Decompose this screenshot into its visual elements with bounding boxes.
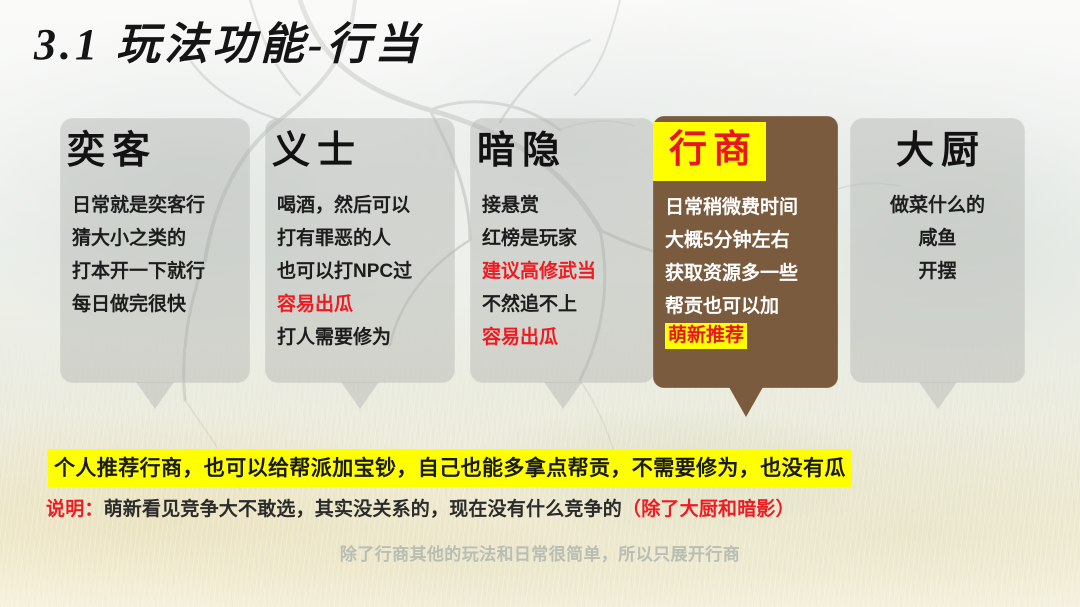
card-4-line-2: 大概5分钟左右 bbox=[665, 224, 790, 257]
card-2-bubble-tail bbox=[341, 382, 379, 409]
card-3-line-4: 不然追不上 bbox=[482, 288, 577, 321]
card-5-line-3: 开摆 bbox=[862, 255, 1013, 288]
card-1-line-2: 猜大小之类的 bbox=[72, 222, 186, 255]
card-2-line-3: 也可以打NPC过 bbox=[277, 255, 412, 288]
card-4-body: 日常稍微费时间 大概5分钟左右 获取资源多一些 帮贡也可以加 萌新推荐 bbox=[653, 191, 838, 349]
card-2-line-1: 喝酒，然后可以 bbox=[277, 189, 410, 222]
card-2-body: 喝酒，然后可以 打有罪恶的人 也可以打NPC过 容易出瓜 打人需要修为 bbox=[265, 189, 455, 354]
recommendation-highlight-note: 个人推荐行商，也可以给帮派加宝钞，自己也能多拿点帮贡，不需要修为，也没有瓜 bbox=[48, 449, 852, 487]
card-2-line-5: 打人需要修为 bbox=[277, 321, 391, 354]
footer-note: 除了行商其他的玩法和日常很简单，所以只展开行商 bbox=[0, 540, 1080, 565]
card-3-title: 暗隐 bbox=[470, 124, 567, 179]
card-3-line-5: 容易出瓜 bbox=[482, 321, 558, 354]
card-5-title: 大厨 bbox=[889, 124, 986, 179]
card-3-body: 接悬赏 红榜是玩家 建议高修武当 不然追不上 容易出瓜 bbox=[470, 189, 655, 354]
slide-title: 3.1 玩法功能-行当 bbox=[34, 8, 423, 72]
card-4-line-3: 获取资源多一些 bbox=[665, 257, 798, 290]
card-4-line-1: 日常稍微费时间 bbox=[665, 191, 798, 224]
card-5-body: 做菜什么的 咸鱼 开摆 bbox=[850, 189, 1025, 288]
profession-card-4-featured[interactable]: 行商 日常稍微费时间 大概5分钟左右 获取资源多一些 帮贡也可以加 萌新推荐 bbox=[653, 116, 838, 388]
card-4-line-4: 帮贡也可以加 bbox=[665, 290, 779, 323]
profession-card-5[interactable]: 大厨 做菜什么的 咸鱼 开摆 bbox=[850, 118, 1025, 383]
card-4-title: 行商 bbox=[653, 122, 766, 181]
card-2-title: 义士 bbox=[265, 124, 362, 179]
card-3-line-1: 接悬赏 bbox=[482, 189, 539, 222]
profession-card-1[interactable]: 奕客 日常就是奕客行 猜大小之类的 打本开一下就行 每日做完很快 bbox=[60, 118, 250, 383]
card-1-title: 奕客 bbox=[60, 124, 157, 179]
card-4-line-5-recommend-badge: 萌新推荐 bbox=[665, 323, 747, 349]
card-5-line-1: 做菜什么的 bbox=[862, 189, 1013, 222]
slide-canvas: 3.1 玩法功能-行当 奕客 日常就是奕客行 猜大小之类的 打本开一下就行 每日… bbox=[0, 0, 1080, 607]
profession-card-3[interactable]: 暗隐 接悬赏 红榜是玩家 建议高修武当 不然追不上 容易出瓜 bbox=[470, 118, 655, 383]
explanation-parenthetical: （除了大厨和暗影） bbox=[622, 499, 795, 520]
card-5-line-2: 咸鱼 bbox=[862, 222, 1013, 255]
card-2-line-2: 打有罪恶的人 bbox=[277, 222, 391, 255]
card-1-body: 日常就是奕客行 猜大小之类的 打本开一下就行 每日做完很快 bbox=[60, 189, 250, 321]
profession-card-2[interactable]: 义士 喝酒，然后可以 打有罪恶的人 也可以打NPC过 容易出瓜 打人需要修为 bbox=[265, 118, 455, 383]
card-3-line-3: 建议高修武当 bbox=[482, 255, 596, 288]
explanation-body: 萌新看见竞争大不敢选，其实没关系的，现在没有什么竞争的 bbox=[104, 499, 622, 520]
card-1-bubble-tail bbox=[136, 382, 174, 409]
explanation-note: 说明：萌新看见竞争大不敢选，其实没关系的，现在没有什么竞争的（除了大厨和暗影） bbox=[46, 494, 795, 521]
card-4-bubble-tail bbox=[729, 387, 763, 417]
explanation-label: 说明： bbox=[46, 499, 104, 520]
profession-cards-row: 奕客 日常就是奕客行 猜大小之类的 打本开一下就行 每日做完很快 义士 喝酒，然… bbox=[60, 118, 1025, 418]
card-3-bubble-tail bbox=[544, 382, 582, 409]
card-3-line-2: 红榜是玩家 bbox=[482, 222, 577, 255]
card-5-bubble-tail bbox=[919, 382, 957, 409]
card-2-line-4: 容易出瓜 bbox=[277, 288, 353, 321]
card-1-line-3: 打本开一下就行 bbox=[72, 255, 205, 288]
card-1-line-1: 日常就是奕客行 bbox=[72, 189, 205, 222]
card-1-line-4: 每日做完很快 bbox=[72, 288, 186, 321]
